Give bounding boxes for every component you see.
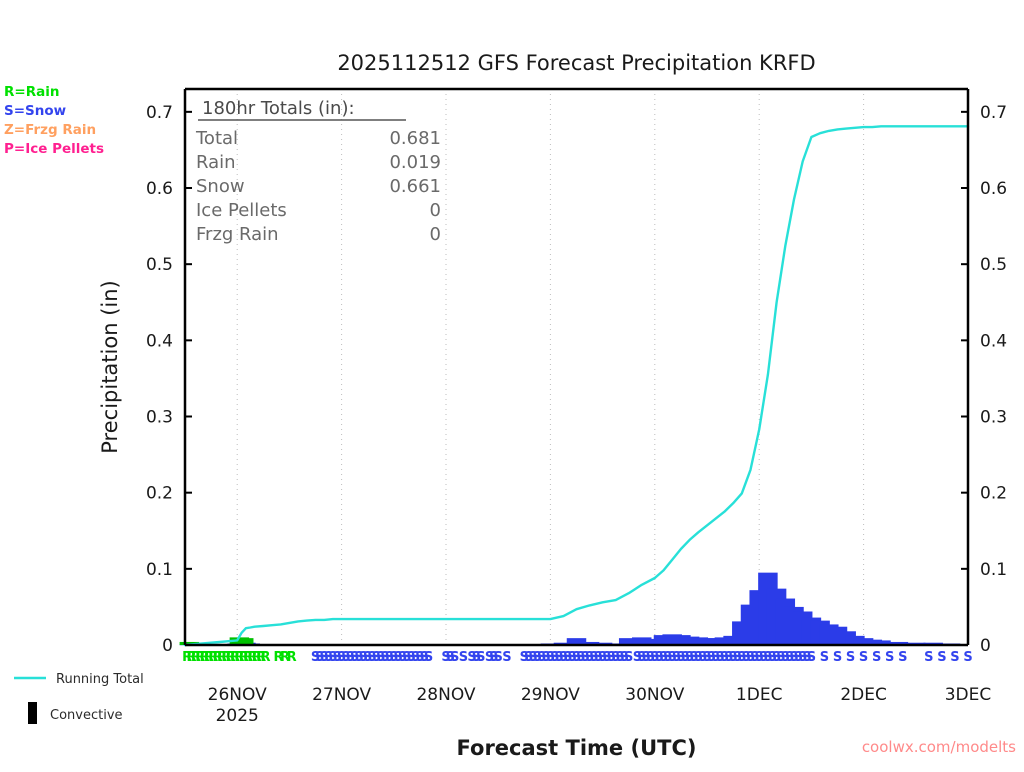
y-tick-label-right-3: 0.3	[980, 408, 1007, 428]
ptype-letter: R	[287, 650, 297, 665]
ptype-letter: S	[963, 650, 972, 665]
ptype-legend-S: S=Snow	[4, 103, 66, 119]
ptype-letter: S	[950, 650, 959, 665]
ptype-markers-S: SSSSSSSSSSSSSSSSSSSSSSSSSSSSSSSSSSSSSSSS…	[311, 650, 973, 665]
totals-row-value-3: 0	[430, 200, 441, 221]
ptype-letter: S	[859, 650, 868, 665]
x-tick-label-26NOV: 26NOV	[208, 685, 267, 705]
x-tick-label-29NOV: 29NOV	[521, 685, 580, 705]
chart-title: 2025112512 GFS Forecast Precipitation KR…	[337, 51, 815, 75]
ptype-letter: S	[820, 650, 829, 665]
y-tick-label-right-6: 0.6	[980, 179, 1007, 199]
totals-row-label-4: Frzg Rain	[196, 224, 279, 245]
x-tick-label-2DEC: 2DEC	[840, 685, 887, 705]
y-tick-label-right-2: 0.2	[980, 484, 1007, 504]
y-tick-label-left-3: 0.3	[146, 408, 173, 428]
x-tick-label-1DEC: 1DEC	[736, 685, 783, 705]
totals-row-label-3: Ice Pellets	[196, 200, 287, 221]
ptype-letter: S	[833, 650, 842, 665]
ptype-letter: S	[807, 650, 816, 665]
y-tick-label-right-4: 0.4	[980, 331, 1007, 351]
totals-row-label-2: Snow	[196, 176, 245, 197]
totals-row-value-2: 0.661	[389, 176, 441, 197]
watermark: coolwx.com/modelts	[862, 738, 1016, 756]
y-tick-label-left-1: 0.1	[146, 560, 173, 580]
y-axis-title: Precipitation (in)	[98, 280, 122, 453]
x-axis-title: Forecast Time (UTC)	[457, 736, 697, 760]
ptype-letter: S	[885, 650, 894, 665]
ptype-legend-Z: Z=Frzg Rain	[4, 122, 96, 138]
x-tick-sublabel-year: 2025	[216, 706, 259, 726]
y-tick-label-left-2: 0.2	[146, 484, 173, 504]
totals-row-label-1: Rain	[196, 152, 236, 173]
y-tick-label-left-7: 0.7	[146, 103, 173, 123]
ptype-letter: S	[502, 650, 511, 665]
y-tick-label-left-6: 0.6	[146, 179, 173, 199]
x-tick-label-27NOV: 27NOV	[312, 685, 371, 705]
totals-row-label-0: Total	[195, 128, 238, 149]
y-tick-label-right-1: 0.1	[980, 560, 1007, 580]
totals-box-heading: 180hr Totals (in):	[202, 98, 355, 119]
ptype-markers-R: RRRRRRRRRRRRRRRRRRRRRR	[182, 650, 296, 665]
y-tick-label-right-7: 0.7	[980, 103, 1007, 123]
y-tick-label-left-5: 0.5	[146, 255, 173, 275]
ptype-legend-R: R=Rain	[4, 84, 59, 100]
ptype-letter: S	[846, 650, 855, 665]
ptype-letter: S	[872, 650, 881, 665]
legend-swatch-convective	[28, 702, 37, 724]
ptype-letter: S	[424, 650, 433, 665]
legend-label-convective: Convective	[50, 708, 123, 723]
ptype-letter: S	[924, 650, 933, 665]
ptype-letter: R	[260, 650, 270, 665]
precipitation-forecast-chart: 2025112512 GFS Forecast Precipitation KR…	[0, 0, 1024, 768]
plot-background	[185, 89, 968, 645]
x-tick-label-28NOV: 28NOV	[416, 685, 475, 705]
ptype-letter: S	[898, 650, 907, 665]
y-tick-label-left-4: 0.4	[146, 331, 173, 351]
y-tick-label-right-0: 0	[980, 636, 991, 656]
y-tick-label-left-0: 0	[162, 636, 173, 656]
x-tick-label-3DEC: 3DEC	[945, 685, 992, 705]
y-tick-label-right-5: 0.5	[980, 255, 1007, 275]
legend-label-running-total: Running Total	[56, 672, 144, 687]
totals-row-value-1: 0.019	[389, 152, 441, 173]
x-tick-label-30NOV: 30NOV	[625, 685, 684, 705]
ptype-legend-P: P=Ice Pellets	[4, 141, 104, 157]
totals-row-value-4: 0	[430, 224, 441, 245]
totals-row-value-0: 0.681	[389, 128, 441, 149]
ptype-letter: S	[937, 650, 946, 665]
